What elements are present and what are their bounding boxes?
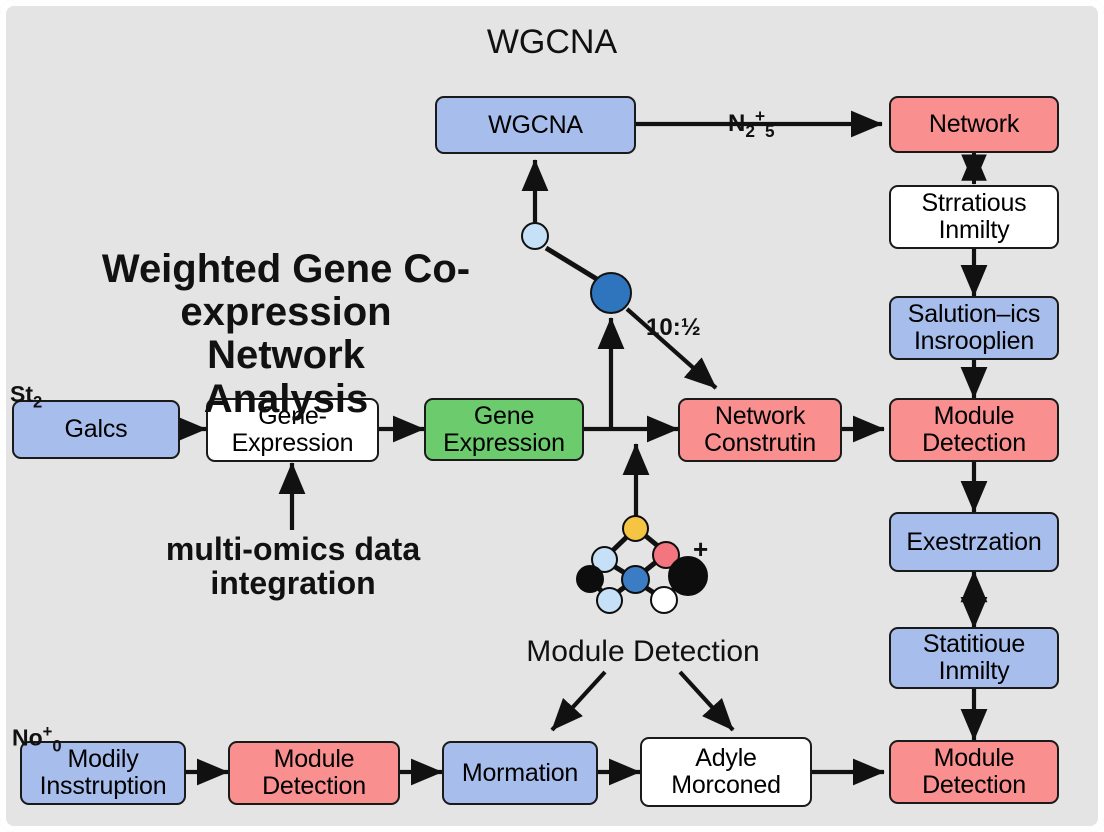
box-network-construtin[interactable]: NetworkConstrutin (678, 398, 842, 462)
box-network[interactable]: Network (889, 96, 1059, 153)
box-module-detection-bottom-right[interactable]: ModuleDetection (889, 740, 1059, 804)
edge-label-hub-to-construction: 10:½ (646, 315, 736, 340)
edge-label-base: N (728, 110, 745, 137)
box-exestrzation[interactable]: Exestrzation (889, 512, 1059, 572)
module-detection-caption: Module Detection (493, 636, 793, 668)
plus-icon: + (693, 534, 708, 565)
box-module-detection-right[interactable]: ModuleDetection (889, 398, 1059, 462)
graph-node-hub-yellow (622, 515, 649, 542)
corner-tag-modily-sup: + (43, 722, 53, 741)
corner-tag-modily: No+0 (12, 699, 132, 755)
box-wgcna[interactable]: WGCNA (435, 96, 636, 154)
corner-tag-galcs-sub: 2 (33, 393, 42, 412)
box-module-detection-bottom[interactable]: ModuleDetection (228, 741, 400, 805)
corner-tag-modily-sub: 0 (52, 737, 61, 756)
edge-label-sub2: 5 (765, 121, 775, 141)
graph-node-black-left (576, 565, 604, 593)
box-mormation[interactable]: Mormation (442, 741, 598, 805)
edge-label-wgcna-to-network: N2+5 (728, 82, 848, 141)
graph-node-white (650, 586, 678, 614)
edge-label-sup: + (755, 106, 765, 126)
edge-label-sub1: 2 (745, 121, 755, 141)
diagram-canvas: WGCNA Weighted Gene Co-expression Networ… (0, 0, 1104, 832)
dot-light (521, 222, 549, 250)
corner-tag-galcs-base: St (10, 381, 33, 407)
graph-node-blue-center (621, 565, 650, 594)
corner-tag-modily-base: No (12, 725, 43, 751)
diagram-title: WGCNA (402, 24, 702, 60)
box-strratious-inmilty[interactable]: StrratiousInmilty (889, 185, 1059, 249)
corner-tag-galcs: St2 (10, 358, 130, 412)
dot-medium (590, 272, 632, 314)
box-statitioue-inmilty[interactable]: StatitioueInmilty (889, 627, 1059, 689)
multiomics-caption: multi-omics data integration (92, 533, 494, 601)
box-adyle-morconed[interactable]: AdyleMorconed (640, 737, 812, 807)
box-salution-ics-insrooplien[interactable]: Salution–icsInsrooplien (889, 296, 1059, 360)
graph-node-lightblue-2 (596, 587, 623, 614)
